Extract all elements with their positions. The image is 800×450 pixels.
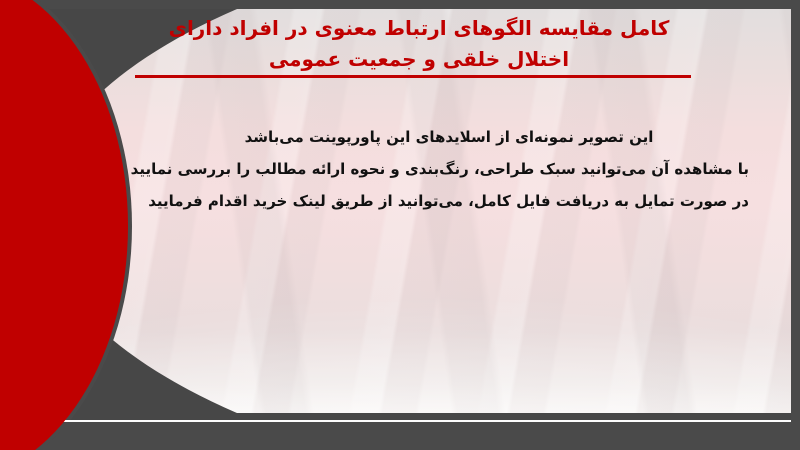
slide-title: کامل مقایسه الگوهای ارتباط معنوی در افرا…: [129, 13, 709, 75]
frame-edge-top: [0, 0, 800, 9]
frame-hairline-bottom: [9, 420, 791, 422]
title-divider-rule: [135, 75, 691, 78]
slide-title-line-1: کامل مقایسه الگوهای ارتباط معنوی در افرا…: [129, 13, 709, 44]
frame-edge-right: [791, 0, 800, 450]
slide-body-text: این تصویر نمونه‌ای از اسلایدهای این پاور…: [149, 121, 749, 217]
slide-body-line-2: با مشاهده آن می‌توانید سبک طراحی، رنگ‌بن…: [149, 153, 749, 185]
slide-body-line-3: در صورت تمایل به دریافت فایل کامل، می‌تو…: [149, 185, 749, 217]
slide-title-line-2: اختلال خلقی و جمعیت عمومی: [129, 44, 709, 75]
slide-body-line-1: این تصویر نمونه‌ای از اسلایدهای این پاور…: [149, 121, 749, 153]
presentation-slide: کامل مقایسه الگوهای ارتباط معنوی در افرا…: [0, 0, 800, 450]
frame-edge-bottom: [0, 422, 800, 450]
